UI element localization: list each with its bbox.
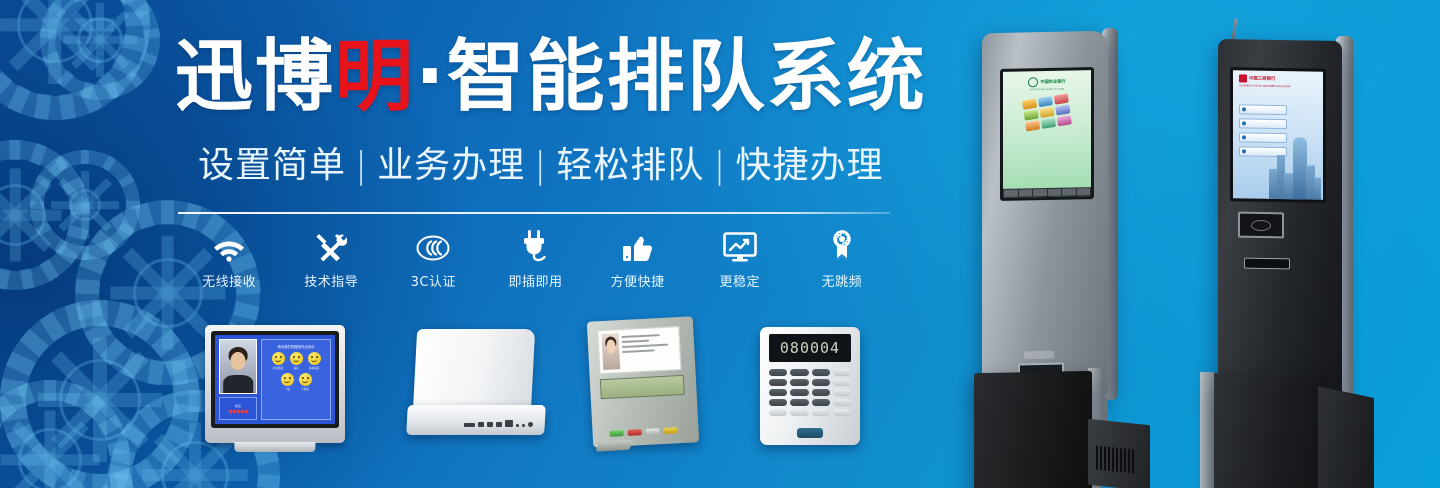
gear-ring [0, 300, 200, 488]
keypad-key[interactable] [790, 409, 808, 416]
gear-spoke [9, 0, 102, 71]
staff-photo [219, 339, 257, 394]
gear-tooth [54, 238, 68, 255]
gear-spoke [71, 11, 130, 70]
gear-tooth [57, 70, 74, 88]
gear-tooth [65, 383, 83, 407]
rating-option: 一般 [281, 373, 294, 391]
eye [284, 377, 286, 379]
building [1293, 137, 1307, 199]
gear-tooth [40, 28, 57, 39]
feature-label: 技术指导 [304, 271, 358, 290]
kiosk-ticket-slot [1244, 258, 1290, 270]
subtitle-item-2: 业务办理 [377, 145, 525, 186]
toolbar-button[interactable] [1077, 188, 1091, 195]
gear-icon [0, 0, 150, 120]
gear-tooth [83, 395, 106, 419]
gear-tooth [35, 174, 52, 188]
service-tile[interactable] [1055, 104, 1070, 115]
toolbar-button[interactable] [1019, 189, 1033, 196]
keypad-key[interactable] [769, 369, 787, 376]
gear-tooth [30, 201, 44, 209]
feature-label: 更稳定 [720, 271, 761, 290]
vent-slat [1108, 447, 1110, 471]
feature-label: 3C认证 [411, 271, 456, 290]
promotional-banner: 迅博明·智能排队系统 设置简单|业务办理|轻松排队|快捷办理 无线接收 [0, 0, 1440, 488]
gear-tooth [65, 302, 87, 331]
product-kiosk-icbc: 中国工商银行 欢迎使用排队叫号系统 请按您需要办理的业务选择 [1200, 22, 1380, 488]
tools-icon [315, 228, 347, 262]
gear-tooth [6, 352, 36, 376]
gear-tooth [181, 202, 201, 229]
gear-spoke [51, 351, 149, 449]
gear-spoke [44, 410, 55, 488]
gear-tooth [20, 329, 49, 357]
kiosk-card-reader[interactable] [1238, 212, 1284, 239]
gear-tooth [117, 0, 132, 3]
gear-tooth [40, 458, 67, 488]
gear-tooth [138, 404, 162, 429]
service-tile[interactable] [1057, 115, 1072, 126]
gear-spoke [96, 3, 104, 77]
gear-tooth [68, 0, 83, 3]
keypad-key[interactable] [769, 379, 787, 386]
port [496, 422, 502, 427]
keypad-key[interactable] [833, 389, 851, 396]
feature-label: 方便快捷 [611, 271, 665, 290]
staff-name: 姓名 [235, 404, 241, 408]
gear-tooth [7, 85, 31, 113]
abc-screen-content: 中国农业银行 AGRICULTURAL BANK OF CHINA [1003, 70, 1091, 198]
gear-tooth [81, 246, 89, 260]
gear-icon [0, 380, 130, 488]
power-plug-icon [520, 228, 550, 262]
vent-slat [1104, 446, 1106, 470]
gear-tooth [151, 443, 180, 471]
service-tile[interactable] [1054, 94, 1069, 105]
gear-tooth [65, 469, 87, 488]
gear-hub [0, 184, 46, 246]
gear-spoke [71, 11, 130, 70]
title-bullet: · [415, 32, 447, 122]
gear-tooth [9, 140, 20, 160]
kiosk-vent-housing [1088, 419, 1150, 488]
rating-label: 不满意 [301, 387, 309, 391]
feature-item-wireless: 无线接收 [178, 228, 280, 290]
host-panel [413, 329, 535, 413]
port [478, 422, 484, 427]
toolbar-button[interactable] [1062, 188, 1076, 195]
subtitle-item-4: 快捷办理 [735, 145, 883, 186]
gear-tooth [0, 72, 12, 100]
card-reader-icon [1251, 219, 1271, 230]
gear-tooth [62, 177, 84, 196]
gear-tooth [35, 222, 52, 236]
gear-tooth [151, 329, 180, 357]
gear-spoke [0, 178, 52, 251]
keypad-key[interactable] [833, 369, 851, 376]
port [464, 423, 475, 427]
gear-tooth [42, 52, 60, 66]
gear-spoke [0, 454, 99, 465]
gear-tooth [79, 85, 103, 113]
gear-tooth [161, 393, 180, 418]
vent-slat [1124, 449, 1126, 473]
gear-tooth [98, 484, 122, 488]
keypad-call-button[interactable] [797, 428, 823, 438]
icbc-menu-item[interactable] [1239, 104, 1287, 115]
gear-tooth [34, 93, 52, 120]
star-icon [244, 409, 248, 413]
gear-tooth [91, 229, 118, 255]
rating-option: 基本满意 [308, 352, 321, 370]
gear-spoke [38, 393, 162, 407]
feature-list: 无线接收 技术指导 3C认证 [178, 228, 893, 290]
eye [298, 356, 300, 358]
rating-label: 满意 [293, 366, 298, 370]
gear-tooth [99, 338, 126, 365]
gear-teeth [0, 140, 90, 290]
gear-tooth [75, 279, 100, 295]
gear-tooth [20, 269, 35, 290]
feature-item-no-frequency-hopping: 无跳频 [791, 228, 893, 290]
gear-tooth [111, 448, 136, 466]
monitor-stand [234, 442, 315, 452]
keypad-key[interactable] [812, 379, 830, 386]
eye [293, 356, 295, 358]
text-line [622, 340, 649, 343]
gear-tooth [20, 443, 49, 471]
icbc-skyline-graphic [1269, 125, 1321, 200]
keypad-key[interactable] [769, 409, 787, 416]
keypad-lcd-screen: 080004 [769, 334, 851, 362]
gear-spoke [10, 169, 21, 262]
feature-label: 无跳频 [822, 271, 863, 290]
feature-item-convenient: 方便快捷 [587, 228, 689, 290]
photo-head [606, 340, 616, 354]
subtitle-separator: | [713, 145, 726, 186]
evaluator-stand [596, 440, 633, 452]
feature-item-more-stable: 更稳定 [689, 228, 791, 290]
keypad-key[interactable] [769, 389, 787, 396]
gear-tooth [134, 202, 154, 229]
gear-tooth [147, 359, 164, 385]
evaluator-button-green[interactable] [610, 430, 624, 437]
gear-tooth [134, 312, 161, 342]
gear-tooth [110, 474, 133, 488]
subtitle-item-3: 轻松排队 [556, 145, 704, 186]
gear-tooth [121, 351, 144, 379]
abc-logo-icon [1028, 77, 1038, 87]
gear-ring [0, 0, 150, 120]
gear-teeth [0, 380, 130, 488]
monitor-frame: 姓名 请对我们的服务作出评价 [211, 331, 339, 428]
evaluator-staff-photo [601, 333, 620, 370]
rating-prompt: 请对我们的服务作出评价 [277, 344, 314, 349]
gear-icon [0, 140, 90, 290]
port [505, 420, 513, 427]
keypad-key[interactable] [790, 389, 808, 396]
vent-slat [1120, 448, 1122, 472]
photo-head [230, 352, 245, 370]
evaluator-button-gray[interactable] [645, 428, 659, 435]
gear-hub [59, 359, 141, 441]
feature-label: 无线接收 [202, 271, 256, 290]
gear-spoke [9, 0, 102, 71]
icbc-branding: 中国工商银行 [1233, 70, 1323, 84]
eye [275, 356, 277, 358]
star-rating [229, 410, 248, 413]
gear-spoke [63, 36, 137, 44]
toolbar-button[interactable] [1004, 190, 1018, 197]
gear-tooth [107, 440, 130, 455]
gear-tooth [0, 484, 2, 488]
wifi-icon [212, 228, 246, 262]
gear-tooth [81, 82, 93, 99]
feature-item-technical-support: 技术指导 [280, 228, 382, 290]
feature-item-plug-and-play: 即插即用 [484, 228, 586, 290]
gear-spoke [0, 210, 62, 221]
title-suffix: 智能排队系统 [447, 32, 927, 122]
gear-spoke [81, 171, 89, 239]
gear-tooth [81, 150, 89, 164]
gear-tooth [84, 321, 112, 345]
kiosk-base [1214, 373, 1326, 488]
gear-tooth [0, 403, 28, 422]
keypad-key-grid[interactable] [769, 369, 851, 416]
gear-tooth [144, 28, 161, 39]
keypad-key[interactable] [833, 379, 851, 386]
rating-option: 满意 [290, 352, 303, 370]
thumbs-up-icon [622, 228, 654, 262]
gear-spoke [58, 178, 112, 232]
award-ribbon-icon [829, 228, 855, 262]
subtitle-item-1: 设置简单 [198, 145, 346, 186]
gear-tooth [0, 395, 17, 419]
evaluator-card-text [621, 330, 677, 369]
gear-icon [0, 300, 200, 488]
gear-tooth [114, 302, 136, 331]
mouth [302, 380, 308, 384]
gear-ring [40, 0, 160, 100]
gear-tooth [107, 464, 130, 479]
service-tile[interactable] [1041, 118, 1056, 129]
gear-tooth [98, 415, 122, 436]
gear-hub [77, 17, 123, 63]
rating-face-list: 非常满意 满意 基本满意 [265, 352, 327, 391]
keypad-key[interactable] [833, 409, 851, 416]
gear-tooth [126, 201, 140, 209]
keypad-key[interactable] [812, 389, 830, 396]
horizontal-divider [178, 212, 890, 214]
gear-tooth [125, 11, 151, 27]
icbc-bank-name: 中国工商银行 [1249, 75, 1275, 81]
smiley-face-icon [308, 352, 321, 365]
vent-slat [1128, 449, 1130, 473]
kiosk-brand-plate [1024, 351, 1054, 360]
gear-tooth [39, 259, 59, 282]
keypad-key[interactable] [790, 379, 808, 386]
port [487, 422, 493, 427]
gear-tooth [134, 458, 161, 488]
gear-teeth [0, 0, 150, 120]
rating-label: 非常满意 [273, 366, 283, 370]
gear-ring [0, 140, 90, 290]
gear-ring [30, 150, 140, 260]
evaluator-button-yellow[interactable] [663, 427, 677, 434]
keypad-key[interactable] [790, 369, 808, 376]
toolbar-button[interactable] [1033, 189, 1047, 196]
gear-tooth [58, 93, 76, 120]
icbc-logo-icon [1239, 74, 1247, 82]
keypad-key[interactable] [812, 399, 830, 406]
service-tile[interactable] [1022, 99, 1037, 110]
gear-tooth [48, 156, 69, 178]
gear-tooth [17, 383, 35, 407]
vent-slat [1096, 446, 1098, 470]
gear-teeth [40, 0, 160, 100]
smiley-face-icon [299, 373, 312, 386]
gear-tooth [106, 82, 118, 99]
abc-bottom-toolbar[interactable] [1003, 187, 1091, 198]
gear-hub [69, 189, 101, 221]
kiosk-base-edge [1200, 372, 1214, 488]
gear-spoke [161, 235, 174, 350]
service-tile[interactable] [1038, 96, 1053, 107]
vent-slat [1100, 446, 1102, 470]
service-tile[interactable] [1039, 107, 1054, 118]
gear-spoke [0, 178, 52, 251]
rating-option: 不满意 [299, 373, 312, 391]
gear-tooth [56, 244, 78, 265]
gear-spoke [51, 201, 119, 209]
kiosk-screen[interactable]: 中国农业银行 AGRICULTURAL BANK OF CHINA [1000, 67, 1094, 201]
gear-spoke [11, 421, 89, 488]
rating-option: 非常满意 [272, 352, 285, 370]
kiosk-vent-housing [1318, 386, 1374, 488]
port [528, 422, 533, 427]
gear-tooth [114, 469, 136, 488]
eye [280, 356, 282, 358]
gear-spoke [58, 178, 112, 232]
banner-title: 迅博明·智能排队系统 [175, 38, 927, 116]
monitor-screen: 姓名 请对我们的服务作出评价 [215, 335, 335, 424]
mouth [293, 359, 299, 363]
gear-icon [40, 0, 160, 100]
vent-slats [1096, 446, 1134, 474]
gear-tooth [112, 54, 141, 79]
vent-slat [1116, 448, 1118, 472]
service-tile[interactable] [1024, 109, 1039, 120]
gear-tooth [76, 301, 103, 320]
mouth [275, 359, 281, 363]
gear-spoke [142, 469, 247, 481]
gear-tooth [79, 252, 106, 274]
gear-tooth [161, 200, 175, 224]
gear-tooth [126, 70, 143, 88]
gear-hub [17, 0, 93, 63]
evaluator-id-card [597, 326, 681, 374]
gear-tooth [257, 474, 280, 488]
kiosk-base [974, 371, 1092, 488]
port [516, 424, 519, 427]
service-tile[interactable] [1025, 120, 1040, 131]
port [522, 424, 525, 427]
keypad-key[interactable] [769, 399, 787, 406]
product-keypad-caller: 080004 [760, 327, 860, 445]
gear-tooth [98, 72, 125, 100]
gear-tooth [93, 300, 108, 326]
gear-hub [18, 428, 82, 488]
mouth [311, 359, 317, 363]
gear-tooth [140, 52, 158, 66]
smiley-face-icon [272, 352, 285, 365]
evaluator-button-red[interactable] [627, 429, 641, 436]
gear-spoke [0, 18, 114, 31]
monitor-staff-panel: 姓名 [219, 339, 257, 420]
keypad-key[interactable] [812, 409, 830, 416]
gear-tooth [118, 0, 146, 6]
gear-teeth [0, 300, 200, 488]
title-prefix: 迅博 [175, 32, 335, 122]
abc-bank-name: 中国农业银行 [1040, 79, 1065, 86]
feature-label: 即插即用 [508, 271, 562, 290]
gear-tooth [110, 212, 135, 240]
smiley-face-icon [281, 373, 294, 386]
mouth [284, 380, 290, 384]
gear-teeth [30, 150, 140, 260]
product-evaluator-terminal [587, 316, 699, 447]
title-highlight: 明 [335, 32, 415, 122]
gear-tooth [40, 312, 67, 342]
gear-tooth [120, 423, 145, 446]
feature-item-3c-certification: 3C认证 [382, 228, 484, 290]
gear-tooth [48, 2, 66, 18]
product-kiosk-abc: 中国农业银行 AGRICULTURAL BANK OF CHINA [960, 20, 1160, 488]
keypad-key[interactable] [833, 399, 851, 406]
keypad-key[interactable] [812, 369, 830, 376]
gear-tooth [118, 174, 135, 188]
host-port-strip [464, 420, 533, 427]
gear-tooth [70, 202, 90, 215]
gear-tooth [54, 155, 68, 172]
kiosk-screen[interactable]: 中国工商银行 欢迎使用排队叫号系统 请按您需要办理的业务选择 [1230, 67, 1326, 203]
gear-tooth [122, 34, 149, 53]
abc-bank-subtitle: AGRICULTURAL BANK OF CHINA [1030, 88, 1065, 92]
monitor-chart-icon [723, 228, 757, 262]
gear-tooth [0, 269, 10, 290]
text-line [622, 344, 668, 348]
text-line [622, 334, 660, 338]
abc-branding: 中国农业银行 [1028, 77, 1065, 88]
gear-tooth [0, 378, 28, 397]
gear-tooth [102, 238, 116, 255]
eye [302, 377, 304, 379]
gear-tooth [102, 155, 116, 172]
eye [307, 377, 309, 379]
gear-ring [0, 380, 130, 488]
keypad-lcd-value: 080004 [780, 339, 840, 357]
gear-tooth [134, 2, 152, 18]
toolbar-button[interactable] [1048, 189, 1062, 196]
product-showcase: 姓名 请对我们的服务作出评价 [185, 315, 905, 460]
icbc-instruction-text: 欢迎使用排队叫号系统 请按您需要办理的业务选择 [1233, 82, 1323, 89]
abc-service-grid[interactable] [1022, 94, 1072, 132]
keypad-key[interactable] [790, 399, 808, 406]
gear-spoke [11, 421, 89, 488]
gear-tooth [44, 380, 56, 401]
vent-slat [1112, 447, 1114, 471]
